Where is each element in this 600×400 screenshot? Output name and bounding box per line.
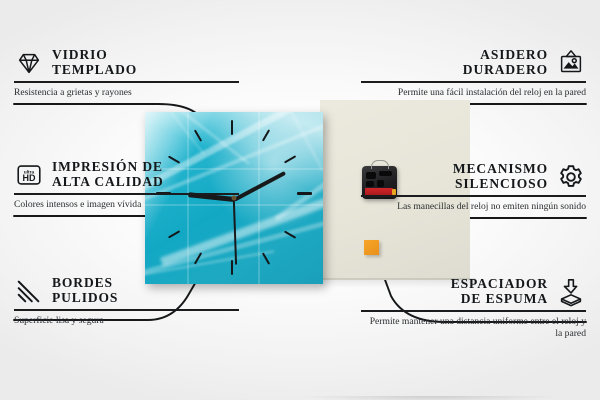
- feature-asidero-duradero: ASIDERO DURADERO Permite una fácil insta…: [361, 48, 586, 99]
- feature-header: ESPACIADOR DE ESPUMA: [361, 277, 586, 307]
- polished-edges-icon: [14, 276, 44, 306]
- feature-title-line2: DE ESPUMA: [461, 292, 548, 307]
- divider: [14, 81, 239, 83]
- divider: [361, 81, 586, 83]
- feature-mecanismo-silencioso: MECANISMO SILENCIOSO Las manecillas del …: [361, 162, 586, 213]
- feature-title-line1: BORDES: [52, 276, 118, 291]
- diamond-icon: [14, 48, 44, 78]
- foam-spacer-pad: [364, 240, 379, 255]
- feature-title-line2: SILENCIOSO: [455, 177, 548, 192]
- feature-description: Las manecillas del reloj no emiten ningú…: [361, 201, 586, 214]
- feature-header: ultra HD IMPRESIÓN DE ALTA CALIDAD: [14, 160, 239, 190]
- feature-espaciador-espuma: ESPACIADOR DE ESPUMA Permite mantener un…: [361, 277, 586, 341]
- feature-title-line1: IMPRESIÓN DE: [52, 160, 164, 175]
- gear-icon: [556, 162, 586, 192]
- clock-center-pin: [232, 196, 237, 201]
- feature-bordes-pulidos: BORDES PULIDOS Superficie lisa y segura: [14, 276, 239, 327]
- feature-vidrio-templado: VIDRIO TEMPLADO Resistencia a grietas y …: [14, 48, 239, 99]
- feature-title-line2: TEMPLADO: [52, 63, 137, 78]
- feature-title-line2: DURADERO: [463, 63, 548, 78]
- divider: [361, 195, 586, 197]
- infographic-canvas: VIDRIO TEMPLADO Resistencia a grietas y …: [0, 0, 600, 400]
- product-shadow: [250, 396, 600, 400]
- feature-title-line1: MECANISMO: [453, 162, 548, 177]
- feature-description: Permite mantener una distancia uniforme …: [361, 316, 586, 341]
- hanging-frame-icon: [556, 48, 586, 78]
- feature-title-line2: ALTA CALIDAD: [52, 175, 164, 190]
- feature-header: BORDES PULIDOS: [14, 276, 239, 306]
- divider: [361, 310, 586, 312]
- feature-impresion-alta-calidad: ultra HD IMPRESIÓN DE ALTA CALIDAD Color…: [14, 160, 239, 211]
- feature-title-line1: ASIDERO: [480, 48, 548, 63]
- divider: [14, 309, 239, 311]
- feature-title-line1: VIDRIO: [52, 48, 137, 63]
- feature-header: MECANISMO SILENCIOSO: [361, 162, 586, 192]
- feature-description: Superficie lisa y segura: [14, 315, 239, 328]
- svg-text:HD: HD: [23, 173, 36, 183]
- divider: [14, 193, 239, 195]
- ultra-hd-badge-icon: ultra HD: [14, 160, 44, 190]
- hour-marker: [297, 192, 312, 195]
- feature-description: Permite una fácil instalación del reloj …: [361, 87, 586, 100]
- feature-header: VIDRIO TEMPLADO: [14, 48, 239, 78]
- feature-header: ASIDERO DURADERO: [361, 48, 586, 78]
- feature-title-line1: ESPACIADOR: [451, 277, 548, 292]
- foam-spacer-icon: [556, 277, 586, 307]
- feature-description: Colores intensos e imagen vívida: [14, 199, 239, 212]
- feature-description: Resistencia a grietas y rayones: [14, 87, 239, 100]
- feature-title-line2: PULIDOS: [52, 291, 118, 306]
- glass-grid-line: [258, 112, 260, 284]
